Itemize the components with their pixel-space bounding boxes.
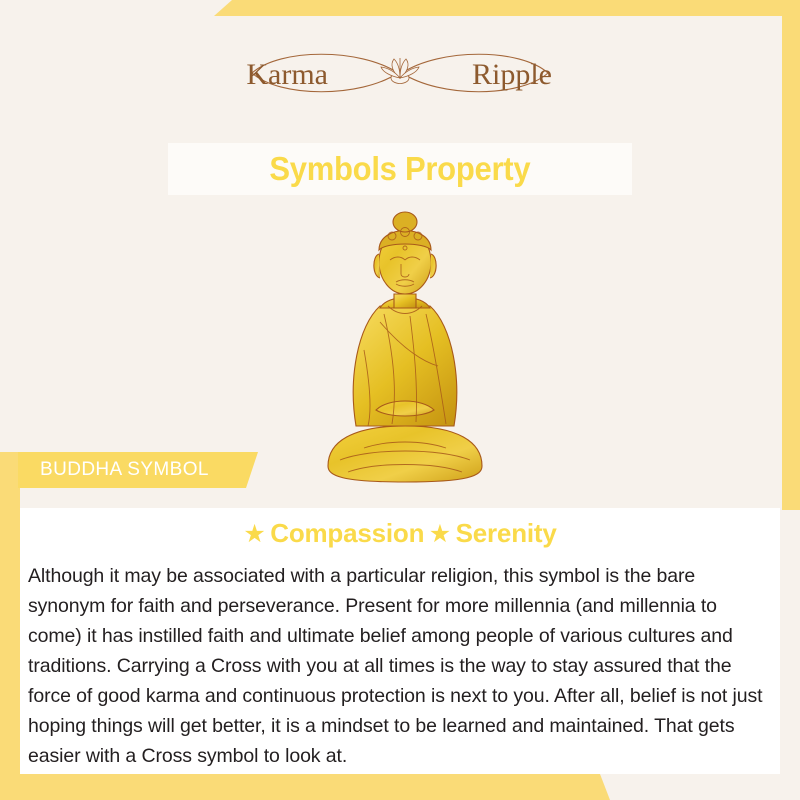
frame-band-left [0, 452, 20, 800]
star-icon: ★ [429, 520, 451, 548]
symbol-ribbon: BUDDHA SYMBOL [18, 452, 258, 488]
page-title-band: Symbols Property [168, 143, 632, 195]
buddha-illustration [318, 198, 492, 494]
poster-canvas: Karma Ripple Symbols Property [0, 0, 800, 800]
attribute-compassion: Compassion [270, 518, 424, 548]
golden-buddha-icon [318, 198, 492, 494]
content-panel: ★ Compassion ★ Serenity Although it may … [20, 508, 780, 774]
karma-ripple-logo-svg: Karma Ripple [240, 42, 560, 104]
description-paragraph: Although it may be associated with a par… [28, 561, 772, 771]
page-title: Symbols Property [270, 150, 531, 188]
brand-name-left: Karma [246, 58, 328, 91]
brand-name-right: Ripple [472, 58, 552, 91]
star-icon: ★ [243, 520, 265, 548]
attribute-serenity: Serenity [456, 518, 557, 548]
attributes-row: ★ Compassion ★ Serenity [20, 518, 780, 549]
frame-band-bottom [0, 774, 610, 800]
frame-band-top [214, 0, 800, 16]
brand-logo: Karma Ripple [0, 42, 800, 104]
symbol-ribbon-label: BUDDHA SYMBOL [18, 459, 209, 481]
